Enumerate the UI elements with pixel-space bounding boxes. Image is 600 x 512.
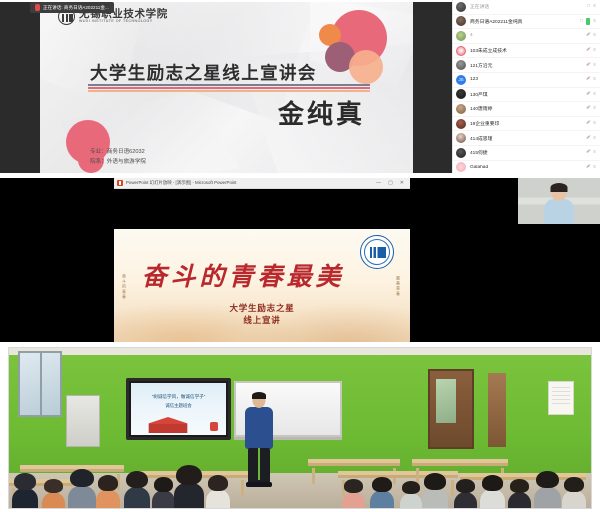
student-body (480, 489, 505, 509)
slide-headline: 奋斗的青春最美 (138, 257, 348, 293)
participant-avatar: JS (456, 75, 466, 85)
shared-slide-cover: 无锡职业技术学院 WUXI INSTITUTE OF TECHNOLOGY 大学… (40, 2, 413, 173)
camera-off-icon[interactable]: ✐ (586, 77, 590, 82)
slide-subtitle-line1: 大学生励志之星 (114, 303, 410, 315)
classroom-student (564, 477, 584, 509)
student-head (176, 465, 202, 485)
active-speaker-tooltip: 正在讲话: 商务日语A202211金... (30, 2, 114, 13)
classroom-slide-artwork (210, 422, 218, 431)
participant-row[interactable]: 121方沿元✐≡ (453, 58, 600, 73)
student-head (98, 475, 118, 491)
participant-row[interactable]: 415何捷✐≡ (453, 146, 600, 161)
participant-name: 正在讲话 (470, 3, 583, 10)
classroom-door (428, 369, 474, 449)
student-head (14, 473, 36, 490)
participant-row[interactable]: 130严琪✐≡ (453, 88, 600, 103)
participant-avatar (456, 2, 466, 12)
classroom-student (98, 475, 118, 509)
microphone-muted-icon[interactable]: ≡ (593, 77, 596, 82)
microphone-muted-icon[interactable]: ≡ (593, 136, 596, 141)
powerpoint-share-panel: PowerPoint 幻灯片放映 - [演示图] - Microsoft Pow… (0, 178, 600, 342)
participant-status: ✐≡ (586, 33, 596, 38)
microphone-muted-icon[interactable]: ≡ (593, 33, 596, 38)
student-body (96, 489, 120, 509)
classroom-student (44, 479, 63, 509)
microphone-muted-icon[interactable]: ≡ (593, 121, 596, 126)
participant-status: ✐≡ (586, 63, 596, 68)
camera-off-icon[interactable]: ✐ (586, 63, 590, 68)
classroom-display: “树诚信学风，做诚信学子” 诚信主题班会 (126, 378, 231, 440)
student-body (400, 493, 421, 509)
participant-status: ✐≡ (586, 48, 596, 53)
camera-off-icon[interactable]: ✐ (586, 165, 590, 170)
student-body (42, 492, 64, 509)
student-head (70, 469, 94, 487)
participant-avatar (456, 89, 466, 99)
active-speaker-label: 正在讲话: 商务日语A202211金... (43, 5, 109, 11)
classroom-display-screen: “树诚信学风，做诚信学子” 诚信主题班会 (131, 383, 226, 435)
presenter-hair (252, 392, 266, 399)
webcam-thumbnail[interactable] (518, 178, 600, 224)
microphone-muted-icon[interactable]: ≡ (593, 165, 596, 170)
powerpoint-titlebar[interactable]: PowerPoint 幻灯片放映 - [演示图] - Microsoft Pow… (114, 178, 410, 189)
presenter-shoes (246, 482, 272, 487)
camera-off-icon[interactable]: ✐ (586, 106, 590, 111)
microphone-on-icon[interactable]: ≡ (593, 19, 596, 24)
participant-status: ✐≡ (586, 121, 596, 126)
powerpoint-body: 奋 斗 的 青 春 最 美 青 春 奋斗的青春最美 大学生励志之星 线上宣讲 (114, 189, 410, 342)
close-button[interactable]: ✕ (400, 181, 404, 186)
participant-row[interactable]: Galahad✐≡ (453, 161, 600, 173)
microphone-muted-icon[interactable]: ≡ (593, 106, 596, 111)
participant-avatar (456, 148, 466, 158)
webcam-person-body (544, 199, 574, 224)
student-head (372, 477, 392, 492)
student-head (402, 481, 420, 494)
student-body (206, 489, 230, 509)
classroom-student (70, 469, 94, 509)
student-head (344, 479, 363, 493)
student-body (422, 488, 448, 509)
participant-name: 4 (470, 33, 582, 38)
presenter-legs (248, 448, 270, 486)
slide-major: 专业：商务日语62032 (90, 148, 146, 158)
classroom-student (372, 477, 392, 509)
maximize-button[interactable]: ▢ (388, 181, 393, 186)
classroom-student (176, 465, 202, 509)
classroom-student (126, 471, 148, 509)
microphone-icon (35, 4, 40, 11)
participant-row[interactable]: 正在讲话□≡ (453, 0, 600, 15)
online-meeting-panel: 无锡职业技术学院 WUXI INSTITUTE OF TECHNOLOGY 大学… (0, 0, 600, 173)
student-head (564, 477, 584, 492)
classroom-photo-panel: “树诚信学风，做诚信学子” 诚信主题班会 (8, 347, 592, 509)
microphone-muted-icon[interactable]: ≡ (593, 92, 596, 97)
classroom-student (402, 481, 420, 509)
screenshot-collage: 无锡职业技术学院 WUXI INSTITUTE OF TECHNOLOGY 大学… (0, 0, 600, 512)
participant-name: 121方沿元 (470, 62, 582, 69)
classroom-student (536, 471, 559, 509)
participant-row[interactable]: 4✐≡ (453, 29, 600, 44)
participant-status: □≡ (580, 18, 596, 25)
camera-off-icon[interactable]: ✐ (586, 92, 590, 97)
student-body (370, 490, 394, 509)
slide-subtitle: 大学生励志之星 线上宣讲 (114, 303, 410, 328)
presenter-person (244, 393, 274, 485)
participant-avatar (456, 162, 466, 172)
participant-row[interactable]: 商务日语A202211金纯真□≡ (453, 15, 600, 30)
student-head (536, 471, 559, 488)
participant-name: 140唐雨婷 (470, 105, 582, 112)
participant-name: 19企业重要印 (470, 120, 582, 127)
slide-title: 大学生励志之星线上宣讲会 (90, 60, 366, 85)
classroom-student (208, 475, 228, 509)
participant-avatar (456, 133, 466, 143)
participant-row[interactable]: 19企业重要印✐≡ (453, 117, 600, 132)
participant-name: 130严琪 (470, 91, 582, 98)
student-head (208, 475, 228, 491)
webcam-video-frame (518, 178, 600, 224)
participant-avatar (456, 46, 466, 56)
participant-row[interactable]: 414成思瑾✐≡ (453, 131, 600, 146)
powerpoint-window: PowerPoint 幻灯片放映 - [演示图] - Microsoft Pow… (114, 178, 410, 342)
participant-name: 415何捷 (470, 149, 582, 156)
door-glass-panel (436, 379, 456, 423)
participant-avatar (456, 16, 466, 26)
participant-row[interactable]: JS123✐≡ (453, 73, 600, 88)
camera-off-icon[interactable]: ✐ (586, 150, 590, 155)
microphone-muted-icon[interactable]: ≡ (593, 48, 596, 53)
participant-row[interactable]: 140唐雨婷✐≡ (453, 102, 600, 117)
powerpoint-window-title: PowerPoint 幻灯片放映 - [演示图] - Microsoft Pow… (126, 180, 373, 186)
participant-status: ✐≡ (586, 165, 596, 170)
classroom-door-secondary (488, 373, 506, 447)
camera-on-icon[interactable]: □ (587, 4, 590, 9)
student-body (12, 488, 38, 509)
classroom-cabinet (66, 395, 100, 447)
participant-list[interactable]: 正在讲话□≡商务日语A202211金纯真□≡4✐≡103朱成立成技术✐≡121方… (452, 0, 600, 173)
camera-off-icon[interactable]: ✐ (586, 121, 590, 126)
participant-name: 103朱成立成技术 (470, 47, 582, 54)
classroom-ceiling (8, 347, 592, 355)
student-body (152, 490, 174, 509)
student-head (154, 477, 173, 492)
microphone-muted-icon[interactable]: ≡ (593, 4, 596, 9)
student-body (68, 486, 96, 509)
microphone-muted-icon[interactable]: ≡ (593, 63, 596, 68)
classroom-desk (412, 459, 508, 466)
participant-status: ✐≡ (586, 92, 596, 97)
slide-divider (88, 84, 370, 92)
classroom-student (344, 479, 363, 509)
camera-off-icon[interactable]: ✐ (586, 136, 590, 141)
classroom-student (456, 479, 475, 509)
camera-off-icon[interactable]: ✐ (586, 48, 590, 53)
webcam-person (546, 184, 572, 224)
shared-screen-stage: 无锡职业技术学院 WUXI INSTITUTE OF TECHNOLOGY 大学… (0, 2, 452, 173)
slide-subtitle-line2: 线上宣讲 (114, 315, 410, 327)
participant-status: ✐≡ (586, 77, 596, 82)
classroom-window (18, 351, 62, 417)
participant-name: 商务日语A202211金纯真 (470, 18, 576, 25)
powerpoint-app-icon (117, 180, 123, 186)
participant-status: ✐≡ (586, 136, 596, 141)
participant-name: 414成思瑾 (470, 135, 582, 142)
participant-status: ✐≡ (586, 150, 596, 155)
classroom-slide-title: “树诚信学风，做诚信学子” (131, 394, 226, 400)
classroom-student (424, 473, 446, 509)
participant-name: Galahad (470, 165, 582, 170)
minimize-button[interactable]: — (376, 181, 381, 186)
classroom-desk (308, 459, 400, 466)
presenter-torso (245, 407, 273, 449)
classroom-student (14, 473, 36, 509)
student-body (534, 487, 561, 509)
student-head (482, 475, 503, 491)
speaking-level-indicator (586, 18, 590, 25)
university-name-en: WUXI INSTITUTE OF TECHNOLOGY (79, 20, 168, 24)
webcam-person-hair (551, 183, 568, 192)
presentation-slide: 奋 斗 的 青 春 最 美 青 春 奋斗的青春最美 大学生励志之星 线上宣讲 (114, 229, 410, 342)
student-body (508, 492, 530, 509)
camera-on-icon[interactable]: □ (580, 19, 583, 24)
student-head (126, 471, 148, 488)
participant-status: ✐≡ (586, 106, 596, 111)
camera-off-icon[interactable]: ✐ (586, 33, 590, 38)
student-body (174, 483, 205, 509)
student-head (510, 479, 529, 493)
slideshow-letterbox (114, 189, 410, 229)
participant-status: □≡ (587, 4, 596, 9)
university-seal-icon (360, 235, 394, 269)
participant-name: 123 (470, 77, 582, 82)
student-head (424, 473, 446, 490)
participant-avatar (456, 31, 466, 41)
student-body (342, 492, 364, 509)
student-head (456, 479, 475, 493)
student-head (44, 479, 63, 493)
slide-speaker-meta: 专业：商务日语62032 院系：外语与旅游学院 (90, 148, 146, 167)
classroom-student (510, 479, 529, 509)
slide-department: 院系：外语与旅游学院 (90, 158, 146, 168)
participant-avatar (456, 104, 466, 114)
student-body (562, 490, 586, 509)
slide-speaker-name: 金纯真 (278, 94, 365, 131)
wall-notice-board (548, 381, 574, 415)
student-body (454, 492, 476, 509)
classroom-student (482, 475, 503, 509)
participant-avatar (456, 60, 466, 70)
classroom-student (154, 477, 173, 509)
microphone-muted-icon[interactable]: ≡ (593, 150, 596, 155)
classroom-slide-subtitle: 诚信主题班会 (131, 403, 226, 409)
participant-row[interactable]: 103朱成立成技术✐≡ (453, 44, 600, 59)
participant-avatar (456, 119, 466, 129)
student-body (124, 487, 150, 509)
classroom-slide-artwork (145, 417, 191, 433)
